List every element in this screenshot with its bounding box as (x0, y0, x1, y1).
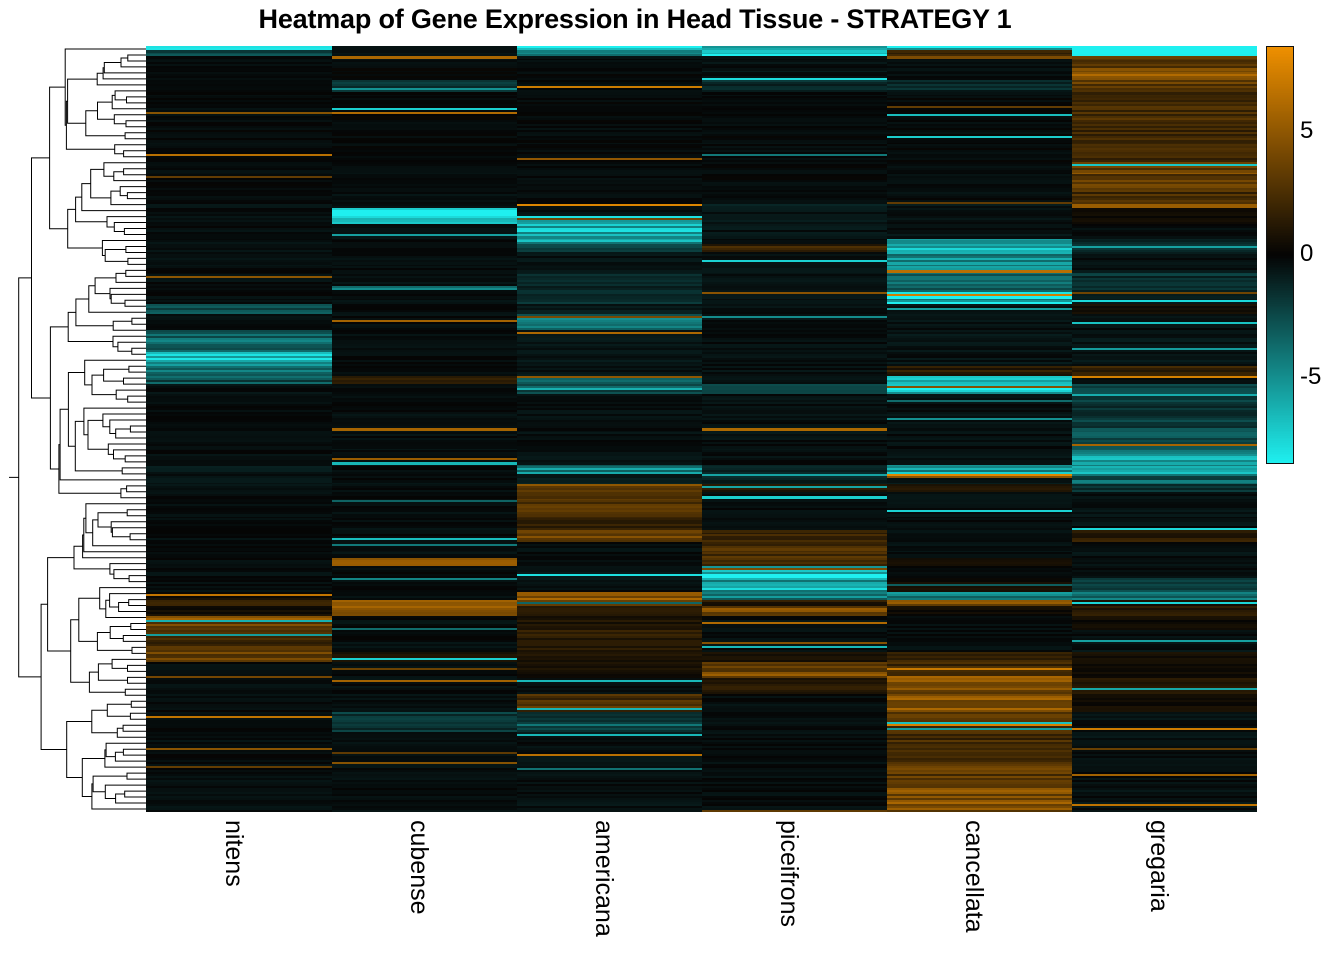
column-label-cubense: cubense (404, 820, 433, 915)
heatmap-canvas[interactable] (146, 46, 1257, 812)
column-label-americana: americana (589, 820, 618, 937)
colorbar-tick-5: 5 (1300, 117, 1313, 145)
column-label-cancellata: cancellata (959, 820, 988, 933)
column-label-gregaria: gregaria (1144, 820, 1173, 912)
colorbar-tick-labels: 50-5 (1300, 46, 1344, 464)
colorbar (1266, 46, 1294, 464)
column-label-piceifrons: piceifrons (774, 820, 803, 927)
colorbar-tick-neg5: -5 (1300, 363, 1321, 391)
colorbar-gradient (1267, 47, 1293, 463)
heatmap-grid[interactable] (146, 46, 1257, 812)
dendrogram-branches (9, 49, 146, 809)
colorbar-tick-0: 0 (1300, 240, 1313, 268)
column-label-nitens: nitens (219, 820, 248, 887)
column-axis-labels: nitenscubenseamericanapiceifronscancella… (146, 814, 1257, 960)
row-dendrogram (8, 46, 146, 812)
page-title: Heatmap of Gene Expression in Head Tissu… (0, 4, 1270, 35)
heatmap-figure: Heatmap of Gene Expression in Head Tissu… (0, 0, 1344, 960)
